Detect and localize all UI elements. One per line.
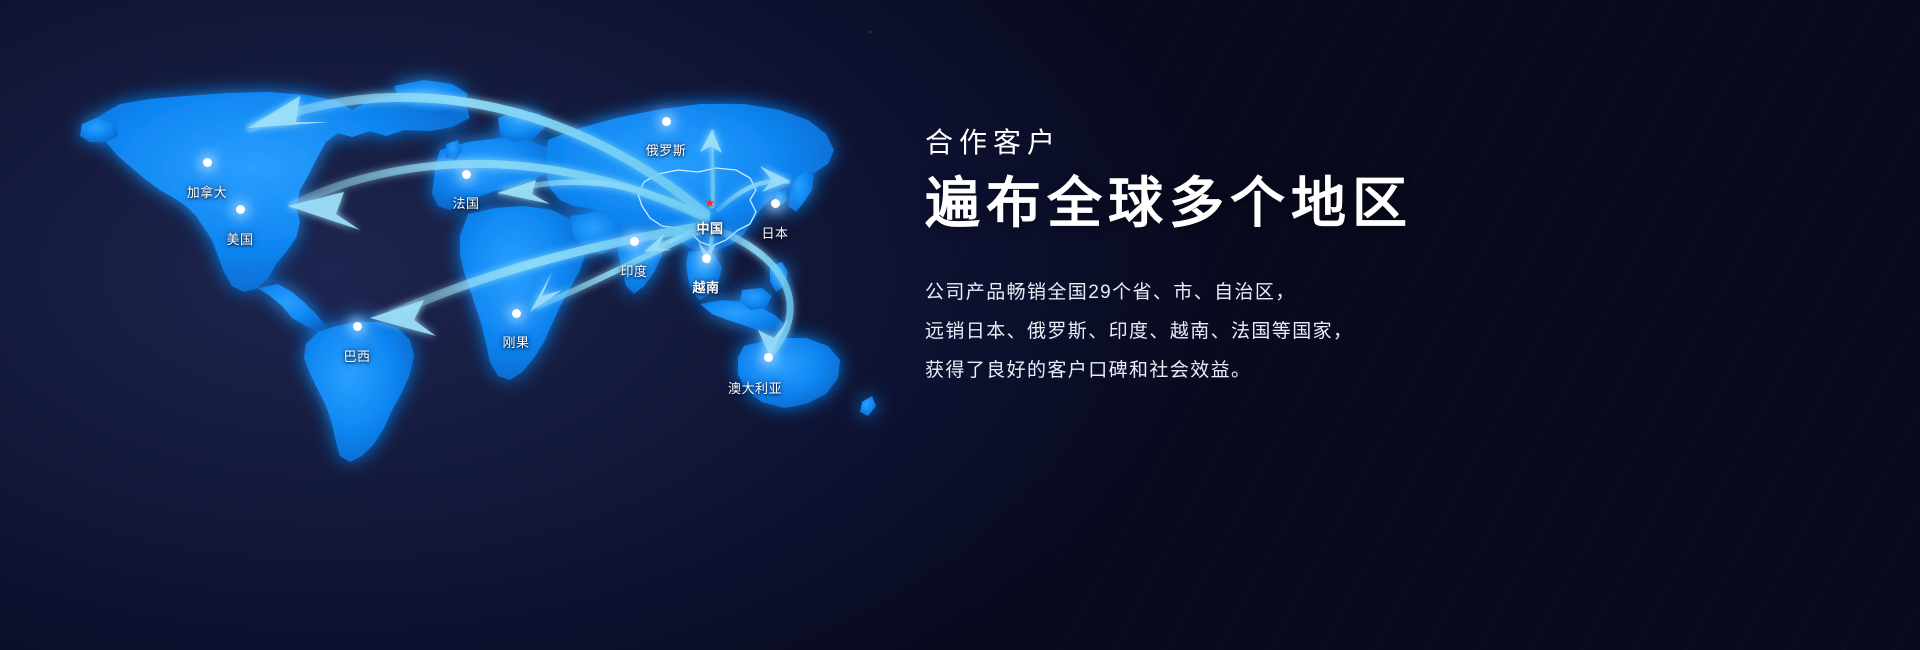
central-america-shape <box>258 284 326 332</box>
map-marker-1[interactable] <box>236 205 245 214</box>
map-marker-6[interactable] <box>512 309 521 318</box>
map-label-10: 澳大利亚 <box>728 382 782 395</box>
map-label-5: 印度 <box>620 265 647 278</box>
map-label-1: 美国 <box>226 233 253 246</box>
landmasses <box>80 80 876 462</box>
map-label-9: 越南 <box>692 281 719 294</box>
map-label-2: 巴西 <box>343 350 370 363</box>
map-label-8: 日本 <box>761 227 788 240</box>
map-label-0: 加拿大 <box>187 186 228 199</box>
map-marker-2[interactable] <box>353 322 362 331</box>
banner-description: 公司产品畅销全国29个省、市、自治区，远销日本、俄罗斯、印度、越南、法国等国家，… <box>925 274 1865 391</box>
banner-headline: 遍布全球多个地区 <box>925 173 1865 235</box>
map-label-7: 中国 <box>696 222 723 235</box>
global-clients-banner: 加拿大美国巴西法国俄罗斯印度刚果中国日本越南澳大利亚 合作客户 遍布全球多个地区… <box>0 0 1920 650</box>
description-line: 公司产品畅销全国29个省、市、自治区， <box>925 274 1865 313</box>
map-label-6: 刚果 <box>502 336 529 349</box>
new-zealand-shape <box>860 396 876 416</box>
banner-eyebrow: 合作客户 <box>925 128 1865 159</box>
map-label-3: 法国 <box>452 197 479 210</box>
map-marker-9[interactable] <box>702 254 711 263</box>
map-marker-10[interactable] <box>764 353 773 362</box>
world-map: 加拿大美国巴西法国俄罗斯印度刚果中国日本越南澳大利亚 <box>0 0 960 650</box>
map-marker-8[interactable] <box>771 199 780 208</box>
banner-text-panel: 合作客户 遍布全球多个地区 公司产品畅销全国29个省、市、自治区，远销日本、俄罗… <box>925 128 1865 391</box>
description-line: 远销日本、俄罗斯、印度、越南、法国等国家， <box>925 313 1865 352</box>
map-label-4: 俄罗斯 <box>646 144 687 157</box>
australia-shape <box>738 338 840 408</box>
description-line: 获得了良好的客户口碑和社会效益。 <box>925 352 1865 391</box>
map-marker-4[interactable] <box>662 117 671 126</box>
map-marker-5[interactable] <box>630 237 639 246</box>
indonesia-shape <box>700 300 786 334</box>
south-america-shape <box>304 322 414 462</box>
map-marker-0[interactable] <box>203 158 212 167</box>
map-marker-3[interactable] <box>462 170 471 179</box>
world-map-svg <box>0 0 960 650</box>
